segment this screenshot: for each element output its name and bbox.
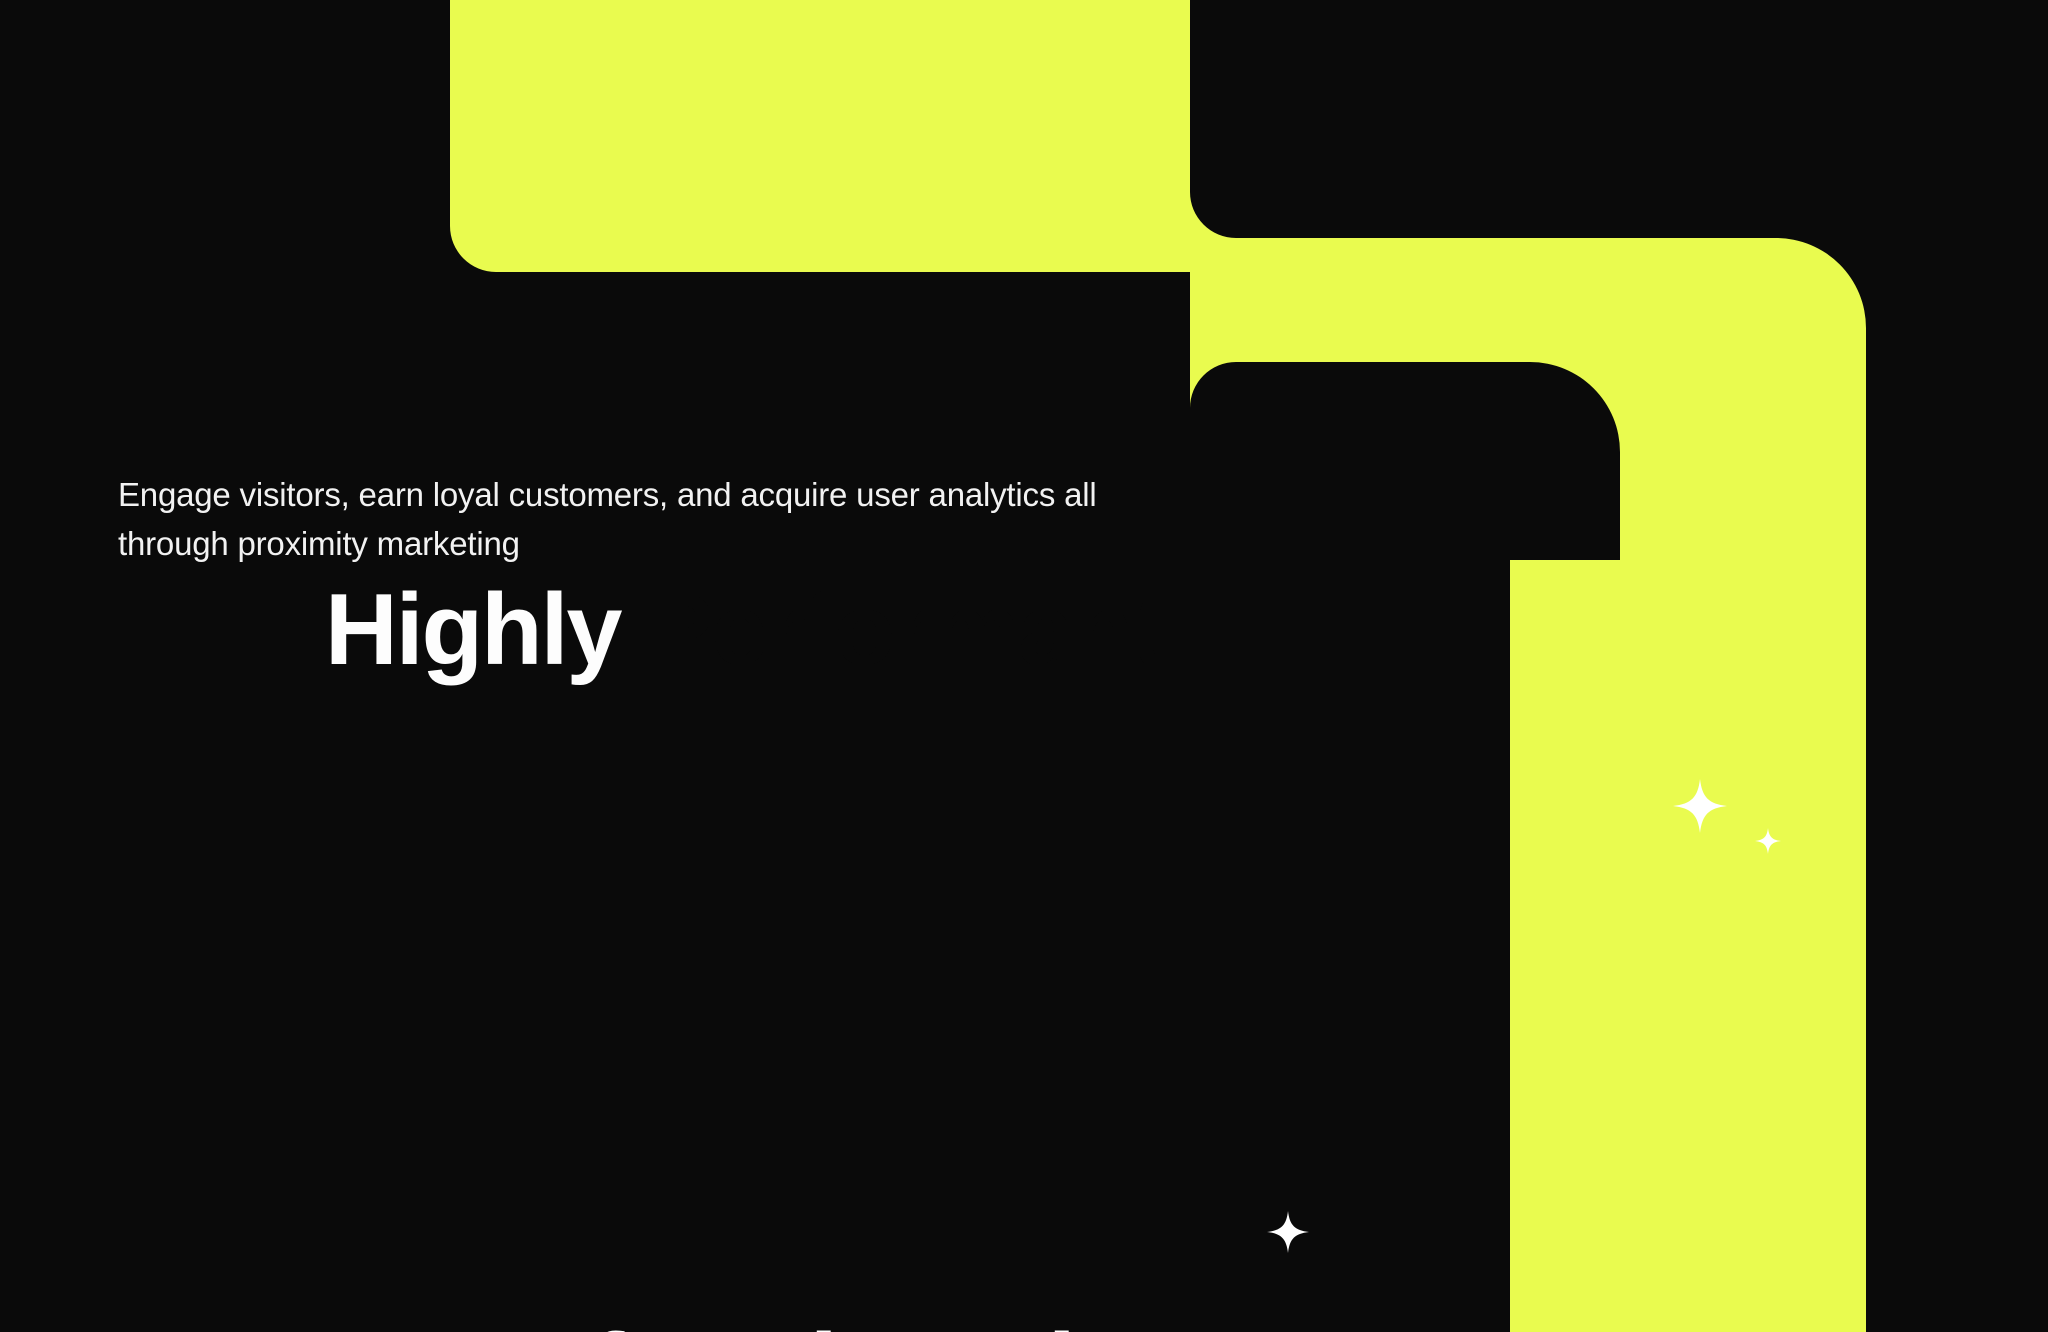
page-subtitle: Engage visitors, earn loyal customers, a… <box>118 470 1178 568</box>
headline-seg-highly: Highly <box>325 574 646 686</box>
page-title: Highly Performant Apps for Shopping Cent… <box>118 112 1878 1332</box>
headline-seg-centers: Centers <box>1218 1314 1579 1332</box>
headline-seg-apps-for-shopping: Apps for Shopping <box>321 1314 1218 1332</box>
headline-seg-performant: Performant <box>646 574 1163 686</box>
headline-line-2: Apps for Shopping Centers <box>118 1148 1878 1332</box>
hero-banner: Highly Performant Apps for Shopping Cent… <box>0 0 2048 1332</box>
